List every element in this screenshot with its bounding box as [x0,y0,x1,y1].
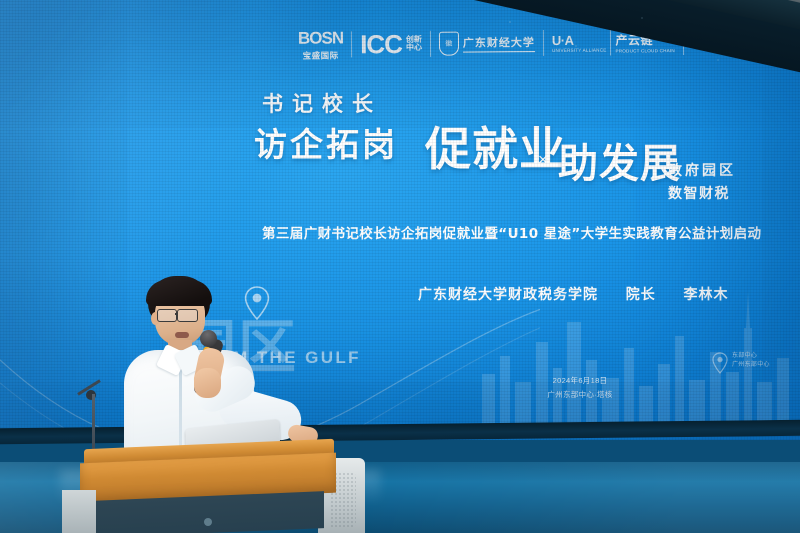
lectern-control-knob [204,518,212,526]
university-crest-icon: 徽 [439,32,459,56]
headline-tag-line2: 数智财税 [668,183,730,203]
bosn-logo-en: BOSN [298,29,343,46]
lectern-side-panel-left [62,490,96,533]
eyeglasses-bridge [175,313,178,315]
association-emblem-icon [692,33,712,51]
logo-divider [430,31,431,57]
headline-line1: 书记校长 [262,88,382,118]
event-venue: 广州东部中心·塔核 [536,388,624,402]
presenter-mouth [175,332,189,338]
headline-line2: 访企拓岗 [254,118,398,166]
icc-logo-cn-line2: 中心 [406,44,422,53]
logo-divider [610,30,611,56]
event-subtitle: 第三届广财书记校长访企拓岗促就业暨“U10 星途”大学生实践教育公益计划启动 [262,222,761,242]
ua-logo-cn-sub: PRODUCT CLOUD CHAIN [615,48,674,54]
city-skyline-graphic [474,282,800,432]
bosn-logo: BOSN 宝盛国际 [298,29,343,60]
icc-logo: ICC 创新 中心 [360,32,422,57]
logo-divider [683,29,684,55]
presenter-hair-front [146,280,212,306]
lectern [62,430,367,533]
speaker-title: 院长 [626,287,656,303]
headline-separator: × [538,150,548,170]
photo-stage: 园区 FROM THE GULF 东部中心 广州东部中心 BOSN 宝盛国际 [0,0,800,533]
pin-label-line1: 东部中心 [732,352,770,361]
association-logo-en: GUANGZHOU TAXPAYER ASSOCIATION [716,47,795,52]
bosn-logo-cn: 宝盛国际 [303,51,339,60]
presenter-right-hand [194,368,221,398]
event-date: 2024年6月18日 [536,374,624,388]
sponsor-logo-bar: BOSN 宝盛国际 ICC 创新 中心 徽 广东财经大学 U·A UNIVE [298,26,795,60]
logo-divider [351,32,352,58]
association-logo-cn: 广州市纳税人协会 [716,33,795,48]
ua-logo-mark: U·A [552,33,607,48]
gdufe-logo-cn: 广东财经大学 [463,34,535,53]
gdufe-logo: 徽 广东财经大学 [439,31,535,56]
pin-label-line2: 广州东部中心 [732,361,770,370]
icc-logo-en: ICC [360,32,402,57]
speaker-credit: 广东财经大学财政税务学院 院长 李林木 [418,284,729,304]
ua-logo-sub-en: UNIVERSITY ALLIANCE [552,48,607,54]
pin-label: 东部中心 广州东部中心 [732,352,770,369]
ua-logo-cn: 产云链 [615,31,674,48]
logo-divider [543,30,544,56]
ua-logo: U·A UNIVERSITY ALLIANCE 产云链 PRODUCT CLOU… [552,29,675,56]
headline-tag-line1: 政府园区 [668,160,736,180]
map-pin-small-icon [712,352,728,374]
speaker-organization: 广东财经大学财政税务学院 [418,287,598,303]
event-meta: 2024年6月18日 广州东部中心·塔核 [536,374,624,403]
headline-big2: 助发展 [558,131,681,189]
eyeglasses-right-lens [177,309,198,322]
taxpayer-association-logo: 广州市纳税人协会 GUANGZHOU TAXPAYER ASSOCIATION [692,33,795,52]
eyeglasses-left-lens [157,309,177,322]
speaker-name: 李林木 [684,287,729,303]
headline-big1: 促就业 [425,113,566,179]
